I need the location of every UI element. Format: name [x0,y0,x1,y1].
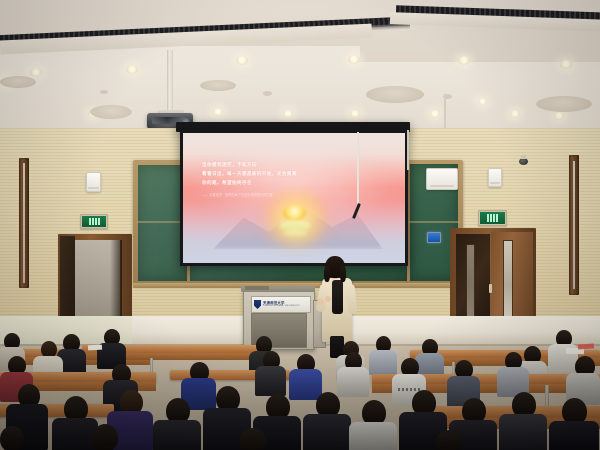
slide-headline-3: 你的路，希望始终存在 [202,180,252,186]
downlight [348,55,360,64]
audience-body [499,414,547,450]
recessed-wall-niche-left [19,158,29,288]
exit-sign-left-face [82,216,106,227]
projector-mount-pole [167,50,173,118]
slide-headline-1: 当你感到迷茫，不知方向 [202,162,257,168]
downlight [458,56,470,65]
downlight [560,60,572,69]
audience-body [349,422,397,450]
wall-mounted-unit [426,168,458,190]
rear-door-handle-icon[interactable] [489,284,492,293]
slide-sun-reflection-2 [284,230,307,236]
audience-head [92,424,118,450]
sunrise-icon [283,205,306,221]
downlight [236,56,248,65]
dome-camera-icon [519,158,528,165]
exit-sign-left [80,214,108,229]
downlight [30,68,42,77]
camera-bracket [521,155,526,159]
paper-on-desk [88,345,102,351]
audience-body [549,421,599,450]
lectern-monitor-edge [245,286,269,290]
presenter-hair-side-right [340,266,346,282]
lectern-university-name-en: TIANJIN NORMAL UNIVERSITY [263,305,300,307]
blue-control-panel[interactable] [427,232,441,243]
downlight [350,110,360,118]
slide-sun-reflection [280,221,310,230]
screen-side-cable [407,130,409,170]
university-shield-icon [254,300,261,309]
ceiling-diffuser [90,105,132,119]
downlight [554,112,564,120]
presenter-hand [317,299,324,305]
rear-door-open-vision-panel [466,244,475,320]
audience-body [303,414,351,450]
presenter-hand-right [325,296,331,302]
ceiling-diffuser [536,96,592,112]
lecture-hall-photo: 当你感到迷茫，不知方向 看看日出，每一天都是新的开始，光会照亮 你的路，希望始终… [0,0,600,450]
downlight [283,110,293,118]
downlight [478,98,487,105]
audience-body [52,418,98,450]
audience-body [153,420,201,450]
screen-pull-cord[interactable] [357,132,359,204]
audience-head [0,426,24,450]
smoke-detector [263,91,272,96]
downlight [213,108,223,116]
recessed-wall-niche-right [569,155,579,295]
wall-speaker-right [488,168,502,187]
audience-body [289,369,322,400]
projection-screen: 当你感到迷茫，不知方向 看看日出，每一天都是新的开始，光会照亮 你的路，希望始终… [183,133,405,263]
audience-head [240,428,266,450]
audience-head [436,430,462,450]
ceiling-diffuser [366,86,424,103]
audience-body [337,367,369,397]
audience-body [369,350,397,375]
wall-speaker [86,172,101,192]
slide-headline-2: 看看日出，每一天都是新的开始，光会照亮 [202,171,297,177]
slide-subtitle: —— 青春逐梦 · 愿你在每个日出中找到前行的力量 [202,192,273,197]
exit-sign-right [478,210,507,226]
smoke-detector [100,90,108,94]
ceiling-diffuser [200,80,236,91]
downlight [430,110,440,118]
ceiling-cable [444,94,446,130]
presenter-hair-side [324,266,330,282]
lectern-nameplate: 天津师范大学 TIANJIN NORMAL UNIVERSITY [251,296,311,313]
rear-door-closed-vision-panel [503,240,513,322]
exit-sign-right-face [480,212,505,224]
downlight [510,110,520,118]
audience-body [255,366,286,396]
presenter-inner-top [332,280,343,314]
ceiling-diffuser [0,76,36,88]
downlight [126,65,138,74]
